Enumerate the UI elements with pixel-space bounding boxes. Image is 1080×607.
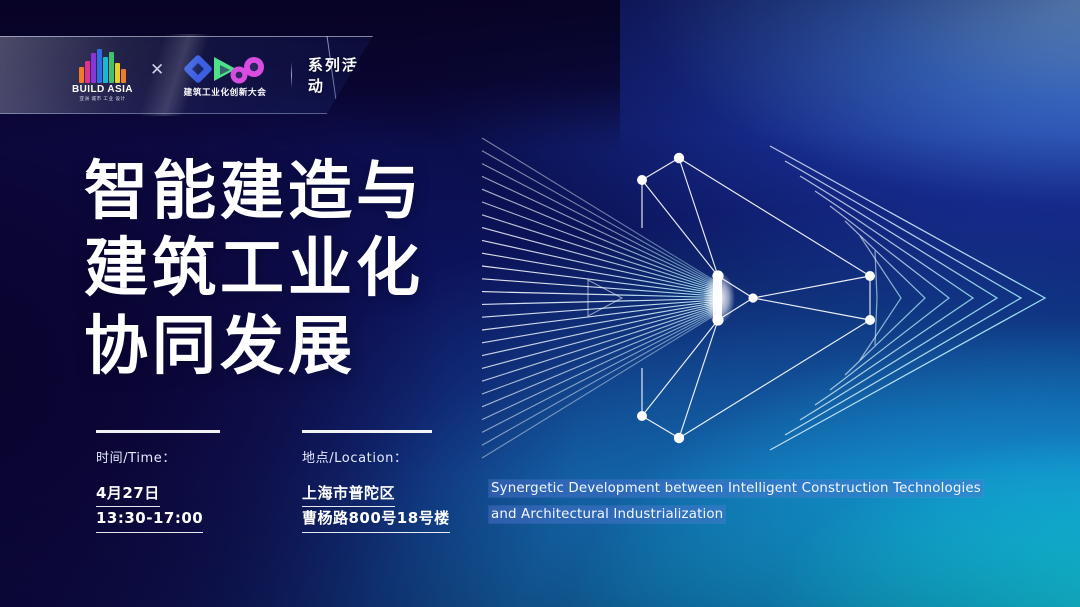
build-asia-name: BUILD ASIA — [72, 85, 133, 95]
info-time-date: 4月27日 — [96, 482, 160, 507]
cross-icon: ✕ — [150, 60, 164, 80]
info-location-district: 上海市普陀区 — [302, 482, 395, 507]
banner-divider — [291, 62, 292, 88]
partner-logo[interactable]: 建筑工业化创新大会 — [177, 53, 273, 97]
english-subtitle: Synergetic Development between Intellige… — [489, 476, 1009, 528]
header-banner: BUILD ASIA 亚洲 城市 工业 设计 ✕ — [0, 36, 373, 114]
info-location-address: 曹杨路800号18号楼 — [302, 507, 450, 532]
partner-name: 建筑工业化创新大会 — [184, 88, 267, 97]
info-location-label: 地点/Location： — [302, 447, 450, 466]
partner-marks-icon — [182, 53, 268, 85]
headline-line-1: 智能建造与 — [84, 160, 484, 225]
event-info: 时间/Time： 4月27日 13:30-17:00 地点/Location： … — [96, 430, 450, 533]
build-asia-logo[interactable]: BUILD ASIA 亚洲 城市 工业 设计 — [68, 49, 137, 102]
headline-line-2: 建筑工业化 — [84, 237, 484, 302]
english-subtitle-line-2: and Architectural Industrialization — [489, 506, 725, 523]
info-time-label: 时间/Time： — [96, 447, 224, 466]
info-time-block: 时间/Time： 4月27日 13:30-17:00 — [96, 430, 224, 533]
info-location-value: 上海市普陀区 曹杨路800号18号楼 — [302, 482, 450, 533]
info-rule — [302, 430, 432, 433]
build-asia-bars-icon — [79, 49, 126, 83]
build-asia-subtitle: 亚洲 城市 工业 设计 — [79, 97, 125, 102]
english-subtitle-line-1: Synergetic Development between Intellige… — [489, 480, 983, 497]
headline-line-3: 协同发展 — [84, 315, 484, 380]
info-location-block: 地点/Location： 上海市普陀区 曹杨路800号18号楼 — [302, 430, 450, 533]
info-rule — [96, 430, 220, 433]
info-time-range: 13:30-17:00 — [96, 507, 203, 532]
poster-canvas: BUILD ASIA 亚洲 城市 工业 设计 ✕ — [0, 0, 1080, 607]
headline: 智能建造与 建筑工业化 协同发展 — [84, 160, 484, 380]
info-time-value: 4月27日 13:30-17:00 — [96, 482, 224, 533]
